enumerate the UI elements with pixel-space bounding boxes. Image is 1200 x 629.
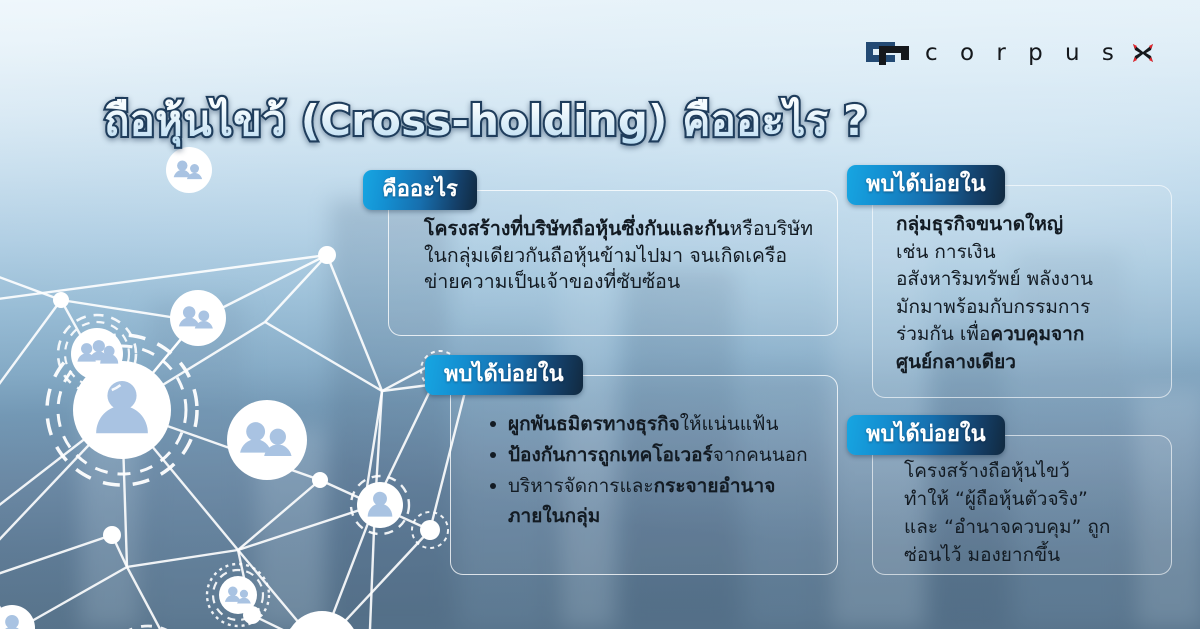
bullet-plain: จากคนนอก bbox=[713, 444, 808, 466]
list-item: ผูกพันธมิตรทางธุรกิจให้แน่นแฟ้น bbox=[488, 409, 828, 439]
where-found-line-2: อสังหาริมทรัพย์ พลังงาน bbox=[896, 266, 1166, 294]
card-definition[interactable]: คืออะไร โครงสร้างที่บริษัทถือหุ้นซึ่งกัน… bbox=[388, 190, 838, 336]
card-badge-label: คืออะไร bbox=[382, 179, 458, 201]
card-badge-label: พบได้บ่อยใน bbox=[444, 364, 564, 386]
page-title: ถือหุ้นไขว้ (Cross-holding) คืออะไร ? ถื… bbox=[104, 88, 894, 144]
page-title-fill: ถือหุ้นไขว้ (Cross-holding) คืออะไร ? bbox=[104, 88, 868, 154]
card-purposes[interactable]: พบได้บ่อยใน ผูกพันธมิตรทางธุรกิจให้แน่นแ… bbox=[450, 375, 838, 575]
cp-monogram-icon bbox=[865, 40, 911, 66]
card-effect[interactable]: พบได้บ่อยใน โครงสร้างถือหุ้นไขว้ ทำให้ “… bbox=[872, 435, 1172, 575]
logo-wordmark: c o r p u s bbox=[925, 40, 1156, 66]
infographic-canvas: c o r p u s ถือหุ้นไขว้ (Cross-holding) … bbox=[0, 0, 1200, 629]
effect-line-3: และ “อำนาจควบคุม” ถูก bbox=[904, 513, 1166, 541]
purposes-list: ผูกพันธมิตรทางธุรกิจให้แน่นแฟ้น ป้องกันก… bbox=[488, 409, 828, 531]
where-found-line-4-plain: ร่วมกัน เพื่อ bbox=[896, 323, 990, 345]
logo-x-icon bbox=[1130, 41, 1156, 65]
bullet-plain: บริหารจัดการและ bbox=[508, 475, 654, 497]
where-found-line-4: ร่วมกัน เพื่อควบคุมจาก bbox=[896, 321, 1166, 349]
effect-line-4: ซ่อนไว้ มองยากขึ้น bbox=[904, 541, 1166, 569]
card-badge-where-found: พบได้บ่อยใน bbox=[847, 165, 1005, 205]
bullet-plain: ให้แน่นแฟ้น bbox=[680, 413, 779, 435]
list-item: ป้องกันการถูกเทคโอเวอร์จากคนนอก bbox=[488, 440, 828, 470]
card-badge-definition: คืออะไร bbox=[363, 170, 477, 210]
card-badge-effect: พบได้บ่อยใน bbox=[847, 415, 1005, 455]
bullet-bold: ป้องกันการถูกเทคโอเวอร์ bbox=[508, 444, 713, 466]
corpusx-logo[interactable]: c o r p u s bbox=[865, 40, 1156, 66]
where-found-lead: กลุ่มธุรกิจขนาดใหญ่ bbox=[896, 211, 1166, 239]
where-found-line-1: เช่น การเงิน bbox=[896, 239, 1166, 267]
card-badge-label: พบได้บ่อยใน bbox=[866, 174, 986, 196]
card-body-where-found: กลุ่มธุรกิจขนาดใหญ่ เช่น การเงิน อสังหาร… bbox=[896, 211, 1166, 376]
card-badge-label: พบได้บ่อยใน bbox=[866, 424, 986, 446]
card-where-found[interactable]: พบได้บ่อยใน กลุ่มธุรกิจขนาดใหญ่ เช่น การ… bbox=[872, 185, 1172, 398]
where-found-line-4-bold: ควบคุมจาก bbox=[990, 323, 1084, 345]
logo-wordmark-text: c o r p u s bbox=[925, 40, 1121, 66]
effect-line-1: โครงสร้างถือหุ้นไขว้ bbox=[904, 457, 1166, 485]
card-body-effect: โครงสร้างถือหุ้นไขว้ ทำให้ “ผู้ถือหุ้นตั… bbox=[904, 457, 1166, 569]
definition-lead: โครงสร้างที่บริษัทถือหุ้นซึ่งกันและกัน bbox=[424, 217, 730, 240]
card-body-definition: โครงสร้างที่บริษัทถือหุ้นซึ่งกันและกันหร… bbox=[424, 216, 814, 296]
effect-line-2: ทำให้ “ผู้ถือหุ้นตัวจริง” bbox=[904, 485, 1166, 513]
list-item: บริหารจัดการและกระจายอำนาจภายในกลุ่ม bbox=[488, 471, 828, 531]
card-badge-purposes: พบได้บ่อยใน bbox=[425, 355, 583, 395]
where-found-line-5: ศูนย์กลางเดียว bbox=[896, 349, 1166, 377]
where-found-line-3: มักมาพร้อมกับกรรมการ bbox=[896, 294, 1166, 322]
bullet-bold: ผูกพันธมิตรทางธุรกิจ bbox=[508, 413, 680, 435]
card-body-purposes: ผูกพันธมิตรทางธุรกิจให้แน่นแฟ้น ป้องกันก… bbox=[488, 409, 828, 532]
